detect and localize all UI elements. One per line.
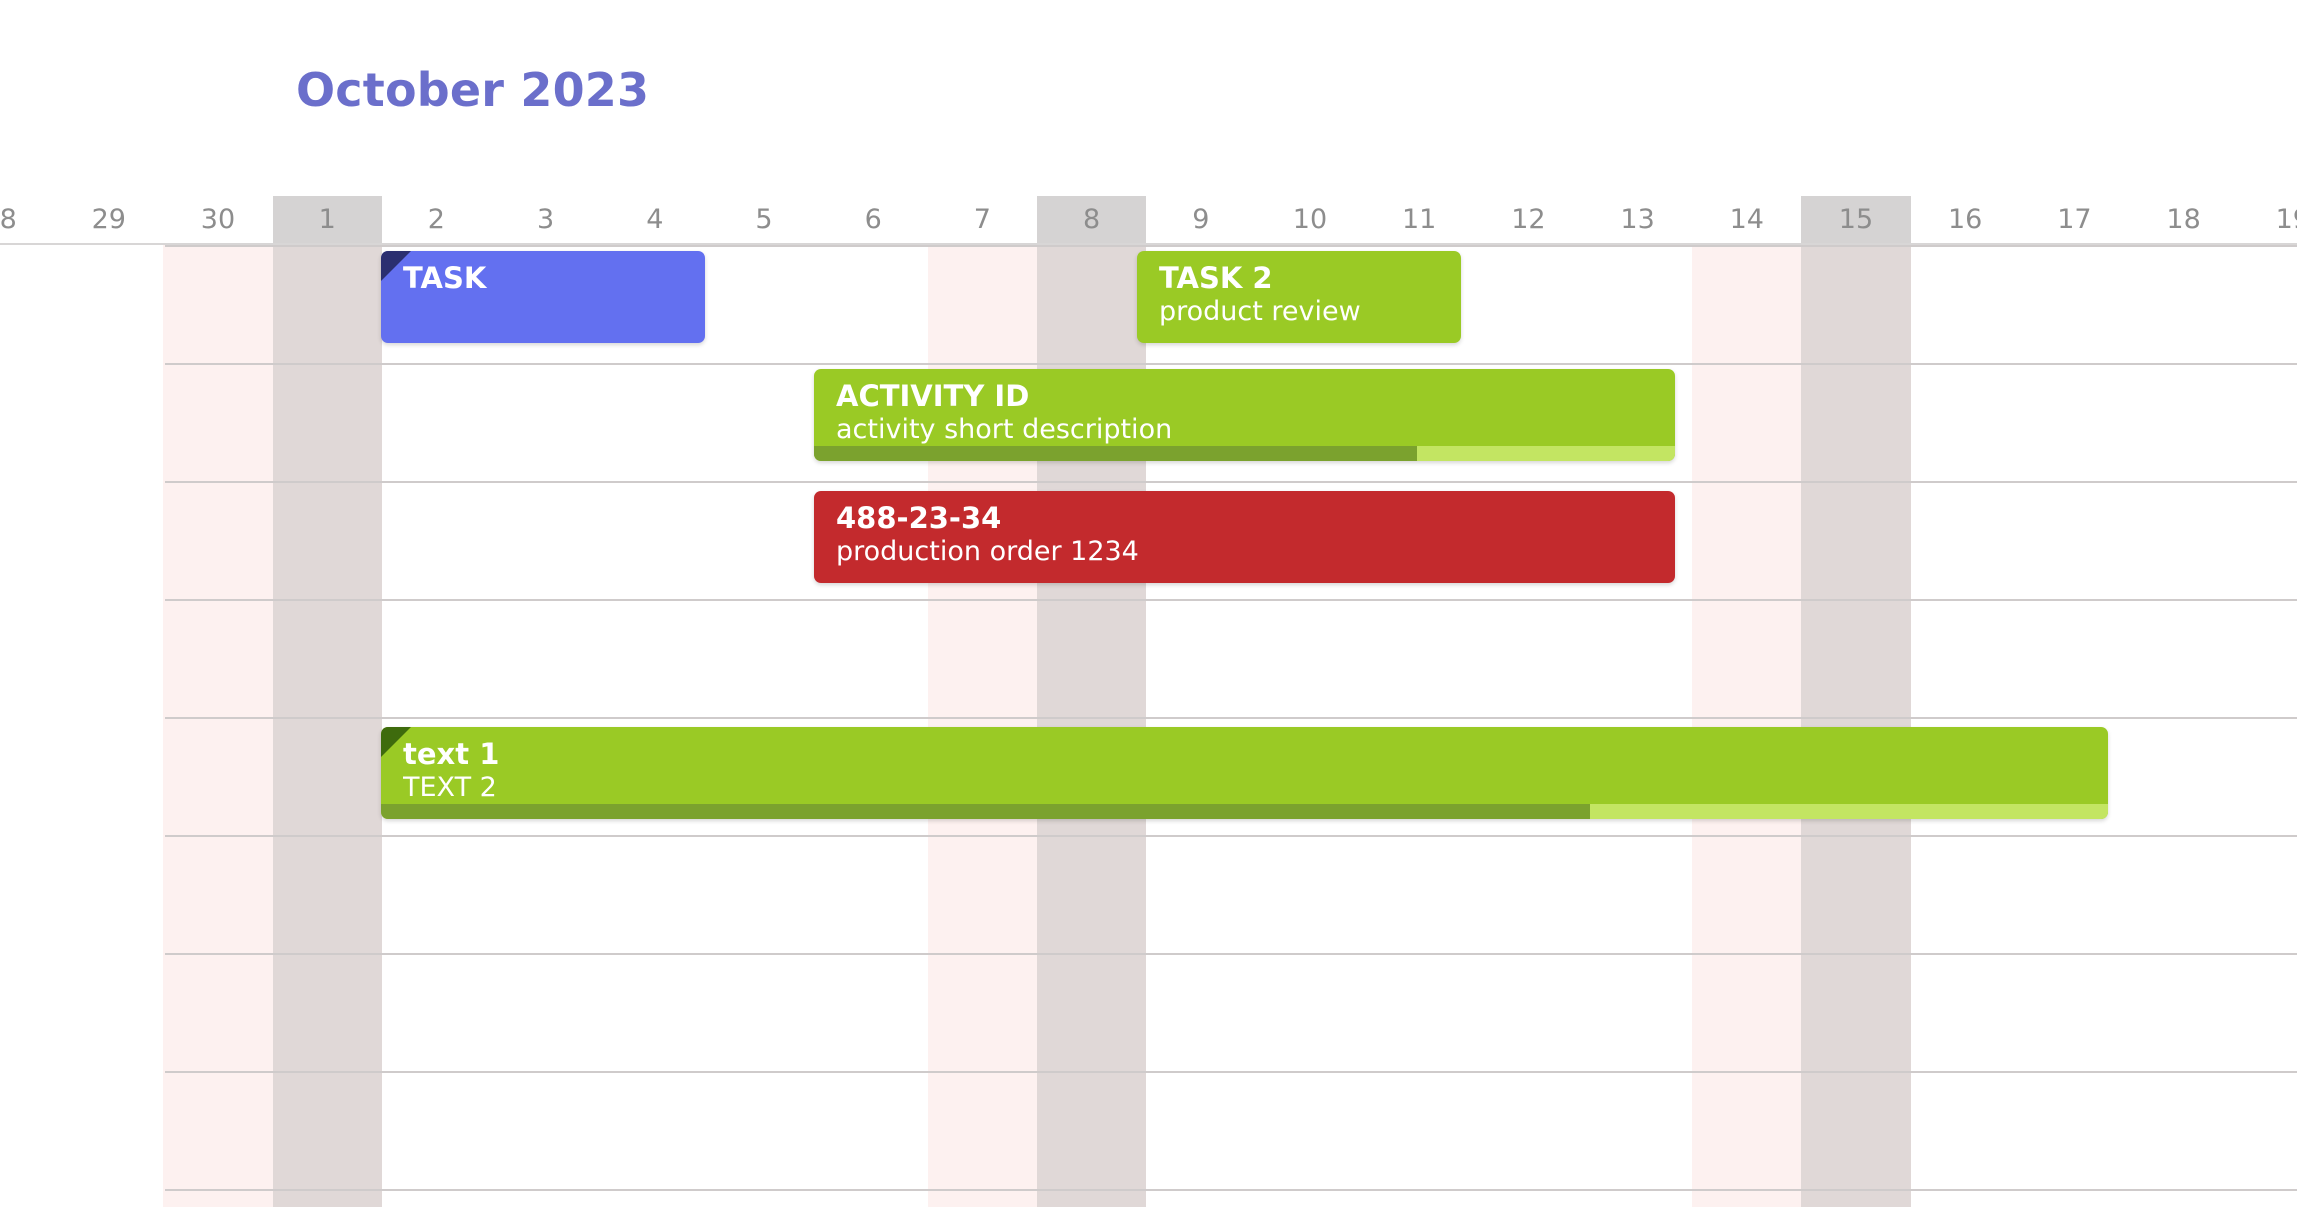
gantt-bar-production-order[interactable]: 488-23-34production order 1234 — [814, 491, 1675, 583]
bar-title: ACTIVITY ID — [836, 379, 1665, 413]
bar-text-wrapper: text 1TEXT 2 — [403, 737, 2098, 804]
day-label-30[interactable]: 30 — [163, 196, 272, 243]
bar-subtitle: product review — [1159, 295, 1451, 328]
day-label-4[interactable]: 4 — [600, 196, 709, 243]
gantt-chart: 28293012345678910111213141516171819 Octo… — [0, 0, 2297, 1207]
day-label-18[interactable]: 18 — [2129, 196, 2238, 243]
day-label-19[interactable]: 19 — [2238, 196, 2297, 243]
gantt-bar-activity-id[interactable]: ACTIVITY IDactivity short description — [814, 369, 1675, 461]
bar-corner-fold-icon — [381, 727, 411, 757]
day-label-14[interactable]: 14 — [1692, 196, 1801, 243]
page-title: October 2023 — [296, 63, 649, 117]
bar-subtitle: TEXT 2 — [403, 771, 2098, 804]
bar-progress-fill — [381, 804, 1590, 819]
bar-title: text 1 — [403, 737, 2098, 771]
day-label-5[interactable]: 5 — [709, 196, 818, 243]
bar-progress-fill — [814, 446, 1417, 461]
bar-subtitle: activity short description — [836, 413, 1665, 446]
day-label-3[interactable]: 3 — [491, 196, 600, 243]
bar-text-wrapper: TASK — [403, 261, 695, 295]
bar-text-wrapper: ACTIVITY IDactivity short description — [836, 379, 1665, 446]
timeline-header: 28293012345678910111213141516171819 — [0, 196, 2297, 245]
bar-corner-fold-icon — [381, 251, 411, 281]
day-label-17[interactable]: 17 — [2020, 196, 2129, 243]
bar-text-wrapper: TASK 2product review — [1159, 261, 1451, 328]
row-separator — [165, 1189, 2297, 1191]
weekend-column-15 — [1801, 245, 1910, 1207]
day-label-2[interactable]: 2 — [382, 196, 491, 243]
row-separator — [165, 481, 2297, 483]
row-separator — [165, 953, 2297, 955]
day-label-13[interactable]: 13 — [1583, 196, 1692, 243]
day-label-9[interactable]: 9 — [1146, 196, 1255, 243]
row-separator — [165, 363, 2297, 365]
day-label-28[interactable]: 28 — [0, 196, 54, 243]
day-label-12[interactable]: 12 — [1474, 196, 1583, 243]
bar-progress-track[interactable] — [814, 446, 1675, 461]
bar-title: TASK — [403, 261, 695, 295]
bar-subtitle: production order 1234 — [836, 535, 1665, 568]
bar-title: TASK 2 — [1159, 261, 1451, 295]
weekend-column-30 — [163, 245, 272, 1207]
weekend-column-14 — [1692, 245, 1801, 1207]
day-label-8[interactable]: 8 — [1037, 196, 1146, 243]
day-label-15[interactable]: 15 — [1801, 196, 1910, 243]
row-separator — [165, 717, 2297, 719]
row-separator — [165, 835, 2297, 837]
bar-title: 488-23-34 — [836, 501, 1665, 535]
gantt-bar-text-1[interactable]: text 1TEXT 2 — [381, 727, 2108, 819]
bar-progress-track[interactable] — [381, 804, 2108, 819]
day-label-1[interactable]: 1 — [273, 196, 382, 243]
day-label-11[interactable]: 11 — [1365, 196, 1474, 243]
bar-text-wrapper: 488-23-34production order 1234 — [836, 501, 1665, 568]
day-label-6[interactable]: 6 — [819, 196, 928, 243]
header-bottom-rule — [0, 243, 2297, 245]
row-separator — [165, 1071, 2297, 1073]
day-label-29[interactable]: 29 — [54, 196, 163, 243]
weekend-column-1 — [273, 245, 382, 1207]
day-label-16[interactable]: 16 — [1911, 196, 2020, 243]
gantt-bar-task[interactable]: TASK — [381, 251, 705, 343]
day-label-10[interactable]: 10 — [1255, 196, 1364, 243]
gantt-bar-task-2[interactable]: TASK 2product review — [1137, 251, 1461, 343]
day-label-7[interactable]: 7 — [928, 196, 1037, 243]
row-separator — [165, 245, 2297, 247]
row-separator — [165, 599, 2297, 601]
